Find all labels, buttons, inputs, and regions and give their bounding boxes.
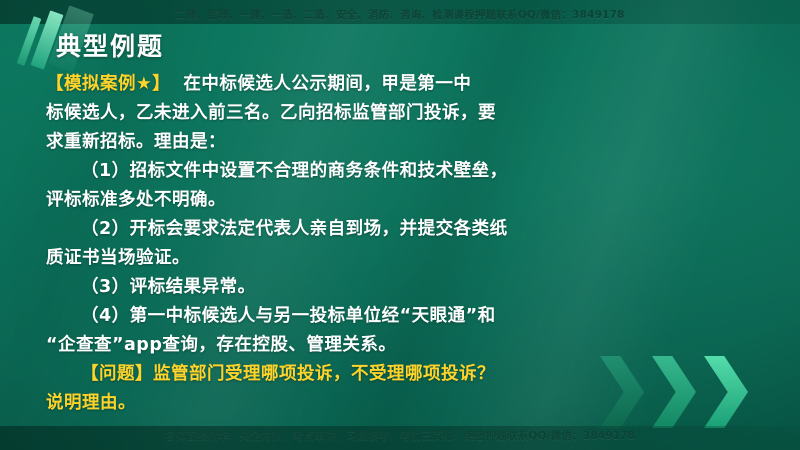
case-line-8: （3）评标结果异常。 <box>46 273 616 302</box>
case-line-4: （1）招标文件中设置不合理的商务条件和技术壁垒， <box>46 157 616 186</box>
case-label: 【模拟案例★】 <box>46 74 170 94</box>
case-line-9: （4）第一中标候选人与另一投标单位经“天眼通”和 <box>46 302 616 331</box>
case-line-3: 求重新招标。理由是： <box>46 128 616 157</box>
top-banner-text: 二建、监理、一建、一造、二造、安全、消防、咨询、检测课程押题联系QQ/微信：38… <box>0 7 800 22</box>
chevron-decor-group <box>600 356 800 428</box>
case-line-6: （2）开标会要求法定代表人亲自到场，并提交各类纸 <box>46 215 616 244</box>
question-line-1: 【问题】监管部门受理哪项投诉，不受理哪项投诉？ <box>46 360 616 389</box>
bottom-banner-text: 名师面授精华、央企内训、考点串讲、习题模考、考前三页纸、绝密押题联系QQ/微信：… <box>0 428 800 443</box>
case-line-5: 评标标准多处不明确。 <box>46 186 616 215</box>
page-title: 典型例题 <box>56 27 164 63</box>
slide-canvas: 二建、监理、一建、一造、二造、安全、消防、咨询、检测课程押题联系QQ/微信：38… <box>0 0 800 450</box>
case-line-10: “企查查”app查询，存在控股、管理关系。 <box>46 331 616 360</box>
question-line-2: 说明理由。 <box>46 389 616 418</box>
case-body: 【模拟案例★】 在中标候选人公示期间，甲是第一中 标候选人，乙未进入前三名。乙向… <box>46 70 616 418</box>
question-label: 【问题】 <box>81 364 153 384</box>
case-line-7: 质证书当场验证。 <box>46 244 616 273</box>
case-line-2: 标候选人，乙未进入前三名。乙向招标监管部门投诉，要 <box>46 99 616 128</box>
chevron-right-icon-3 <box>704 356 748 428</box>
case-line-1: 【模拟案例★】 在中标候选人公示期间，甲是第一中 <box>46 70 616 99</box>
question-line-1-text: 监管部门受理哪项投诉，不受理哪项投诉？ <box>153 364 495 384</box>
chevron-right-icon-2 <box>652 356 696 428</box>
case-line-1-text: 在中标候选人公示期间，甲是第一中 <box>170 74 471 94</box>
